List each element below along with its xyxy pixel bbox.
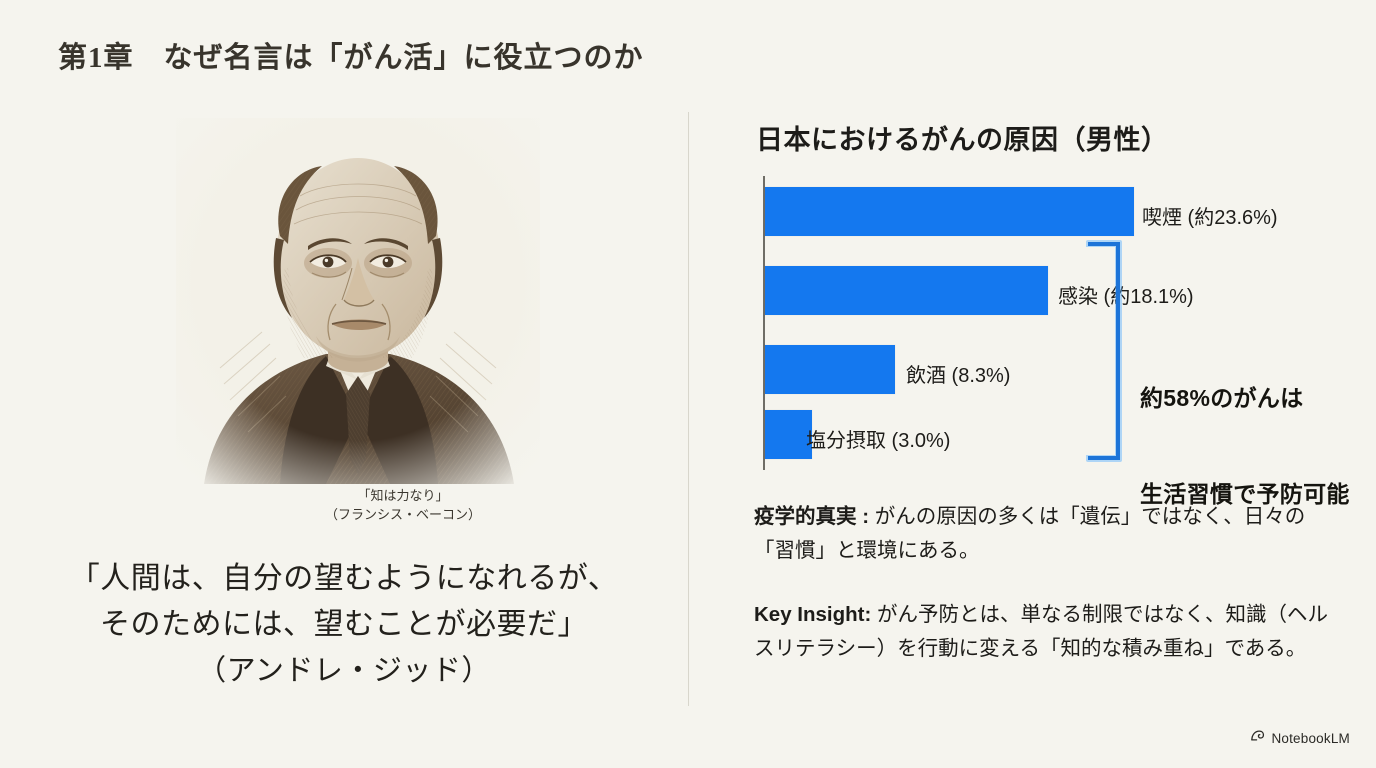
portrait-caption-line-1: 「知は力なり」 xyxy=(118,486,688,505)
notebooklm-logo: NotebookLM xyxy=(1250,728,1350,748)
paragraph-epidemiology-lead: 疫学的真実 : xyxy=(754,505,869,528)
portrait-caption-line-2: （フランシス・ベーコン） xyxy=(118,505,688,524)
notebooklm-logo-text: NotebookLM xyxy=(1271,731,1350,746)
chart-annotation-line-1: 約58%のがんは xyxy=(1140,382,1350,414)
left-panel: 「知は力なり」 （フランシス・ベーコン） 「人間は、自分の望むようになれるが、 … xyxy=(0,0,688,768)
bar-label-smoking: 喫煙 (約23.6%) xyxy=(1142,201,1278,230)
bar-label-infection: 感染 (約18.1%) xyxy=(1058,280,1194,309)
quote-attribution: （アンドレ・ジッド） xyxy=(0,648,688,694)
bar-infection xyxy=(765,266,1048,315)
paragraph-key-insight-lead: Key Insight: xyxy=(754,603,871,626)
paragraph-key-insight: Key Insight: がん予防とは、単なる制限ではなく、知識（ヘルスリテラシ… xyxy=(754,598,1344,666)
bar-smoking xyxy=(765,187,1134,236)
bar-label-alcohol: 飲酒 (8.3%) xyxy=(906,359,1010,388)
paragraph-epidemiology: 疫学的真実 : がんの原因の多くは「遺伝」ではなく、日々の「習慣」と環境にある。 xyxy=(754,500,1344,568)
portrait-caption: 「知は力なり」 （フランシス・ベーコン） xyxy=(0,486,688,524)
bar-alcohol xyxy=(765,345,895,394)
bar-salt xyxy=(765,410,812,459)
bar-label-salt: 塩分摂取 (3.0%) xyxy=(806,424,950,453)
quote-line-2: そのためには、望むことが必要だ」 xyxy=(0,602,688,648)
chart-title: 日本におけるがんの原因（男性） xyxy=(756,118,1169,157)
quote-block: 「人間は、自分の望むようになれるが、 そのためには、望むことが必要だ」 （アンド… xyxy=(0,556,688,694)
right-panel: 日本におけるがんの原因（男性） 喫煙 (約23.6%) 感染 (約18.1%) … xyxy=(688,0,1376,768)
annotation-bracket xyxy=(1088,242,1120,460)
quote-line-1: 「人間は、自分の望むようになれるが、 xyxy=(0,556,688,602)
portrait-image xyxy=(176,118,540,484)
cancer-causes-bar-chart: 喫煙 (約23.6%) 感染 (約18.1%) 飲酒 (8.3%) 塩分摂取 (… xyxy=(748,170,1348,476)
notebooklm-mark-icon xyxy=(1250,728,1265,748)
